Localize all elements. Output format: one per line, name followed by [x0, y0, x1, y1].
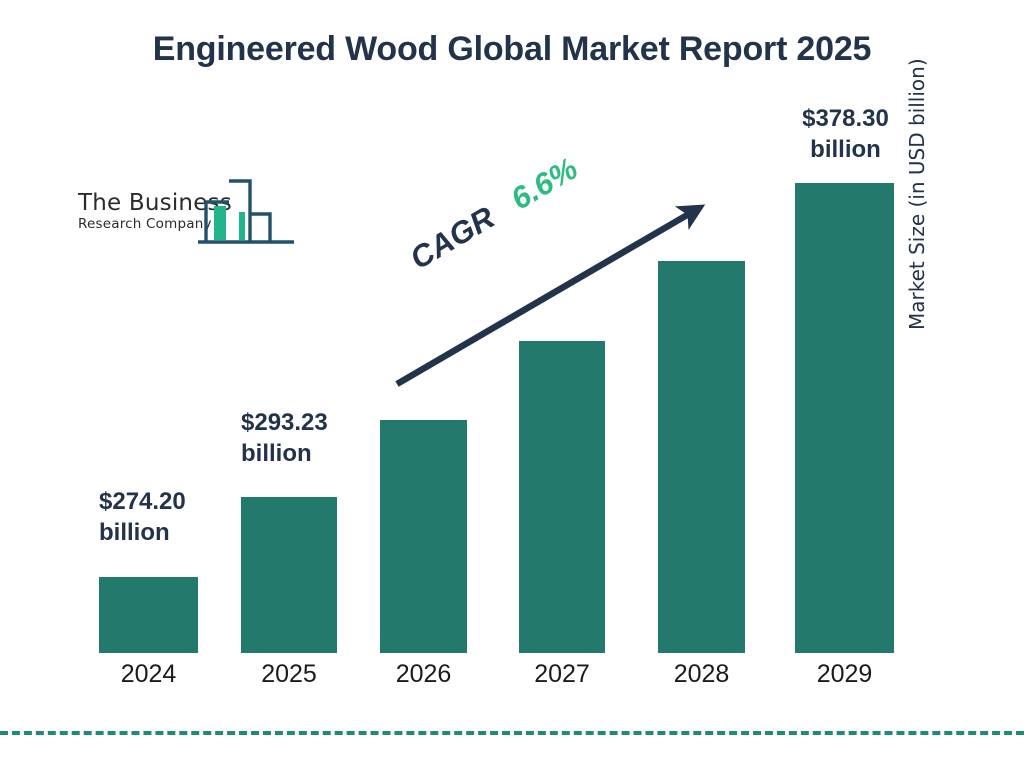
cagr-label: CAGR — [404, 200, 500, 276]
x-axis-label-2025: 2025 — [241, 660, 337, 689]
x-axis-label-2024: 2024 — [99, 660, 198, 689]
cagr-annotation: CAGR 6.6% — [404, 151, 584, 277]
bar-2029 — [795, 183, 894, 653]
bar-2028 — [658, 261, 745, 653]
x-axis-label-2027: 2027 — [519, 660, 605, 689]
value-callout-2029-amount: $378.30 — [802, 105, 889, 132]
value-callout-2029: $378.30 billion — [773, 104, 918, 165]
x-axis-label-2029: 2029 — [795, 660, 894, 689]
value-callout-2024-unit: billion — [99, 518, 186, 549]
cagr-value: 6.6% — [505, 151, 584, 217]
value-callout-2024-amount: $274.20 — [99, 488, 186, 515]
bar-2026 — [380, 420, 467, 653]
bar-2024 — [99, 577, 198, 653]
bar-chart: 2024 2025 2026 2027 2028 2029 $274.20 bi… — [0, 0, 1024, 768]
value-callout-2025: $293.23 billion — [241, 408, 328, 469]
value-callout-2025-amount: $293.23 — [241, 409, 328, 436]
value-callout-2024: $274.20 billion — [99, 487, 186, 548]
x-axis-label-2026: 2026 — [380, 660, 467, 689]
value-callout-2025-unit: billion — [241, 439, 328, 470]
bar-2025 — [241, 497, 337, 653]
bar-2027 — [519, 341, 605, 653]
footer-divider — [0, 731, 1024, 735]
value-callout-2029-unit: billion — [773, 135, 918, 166]
x-axis-label-2028: 2028 — [658, 660, 745, 689]
y-axis-title: Market Size (in USD billion) — [905, 0, 929, 330]
